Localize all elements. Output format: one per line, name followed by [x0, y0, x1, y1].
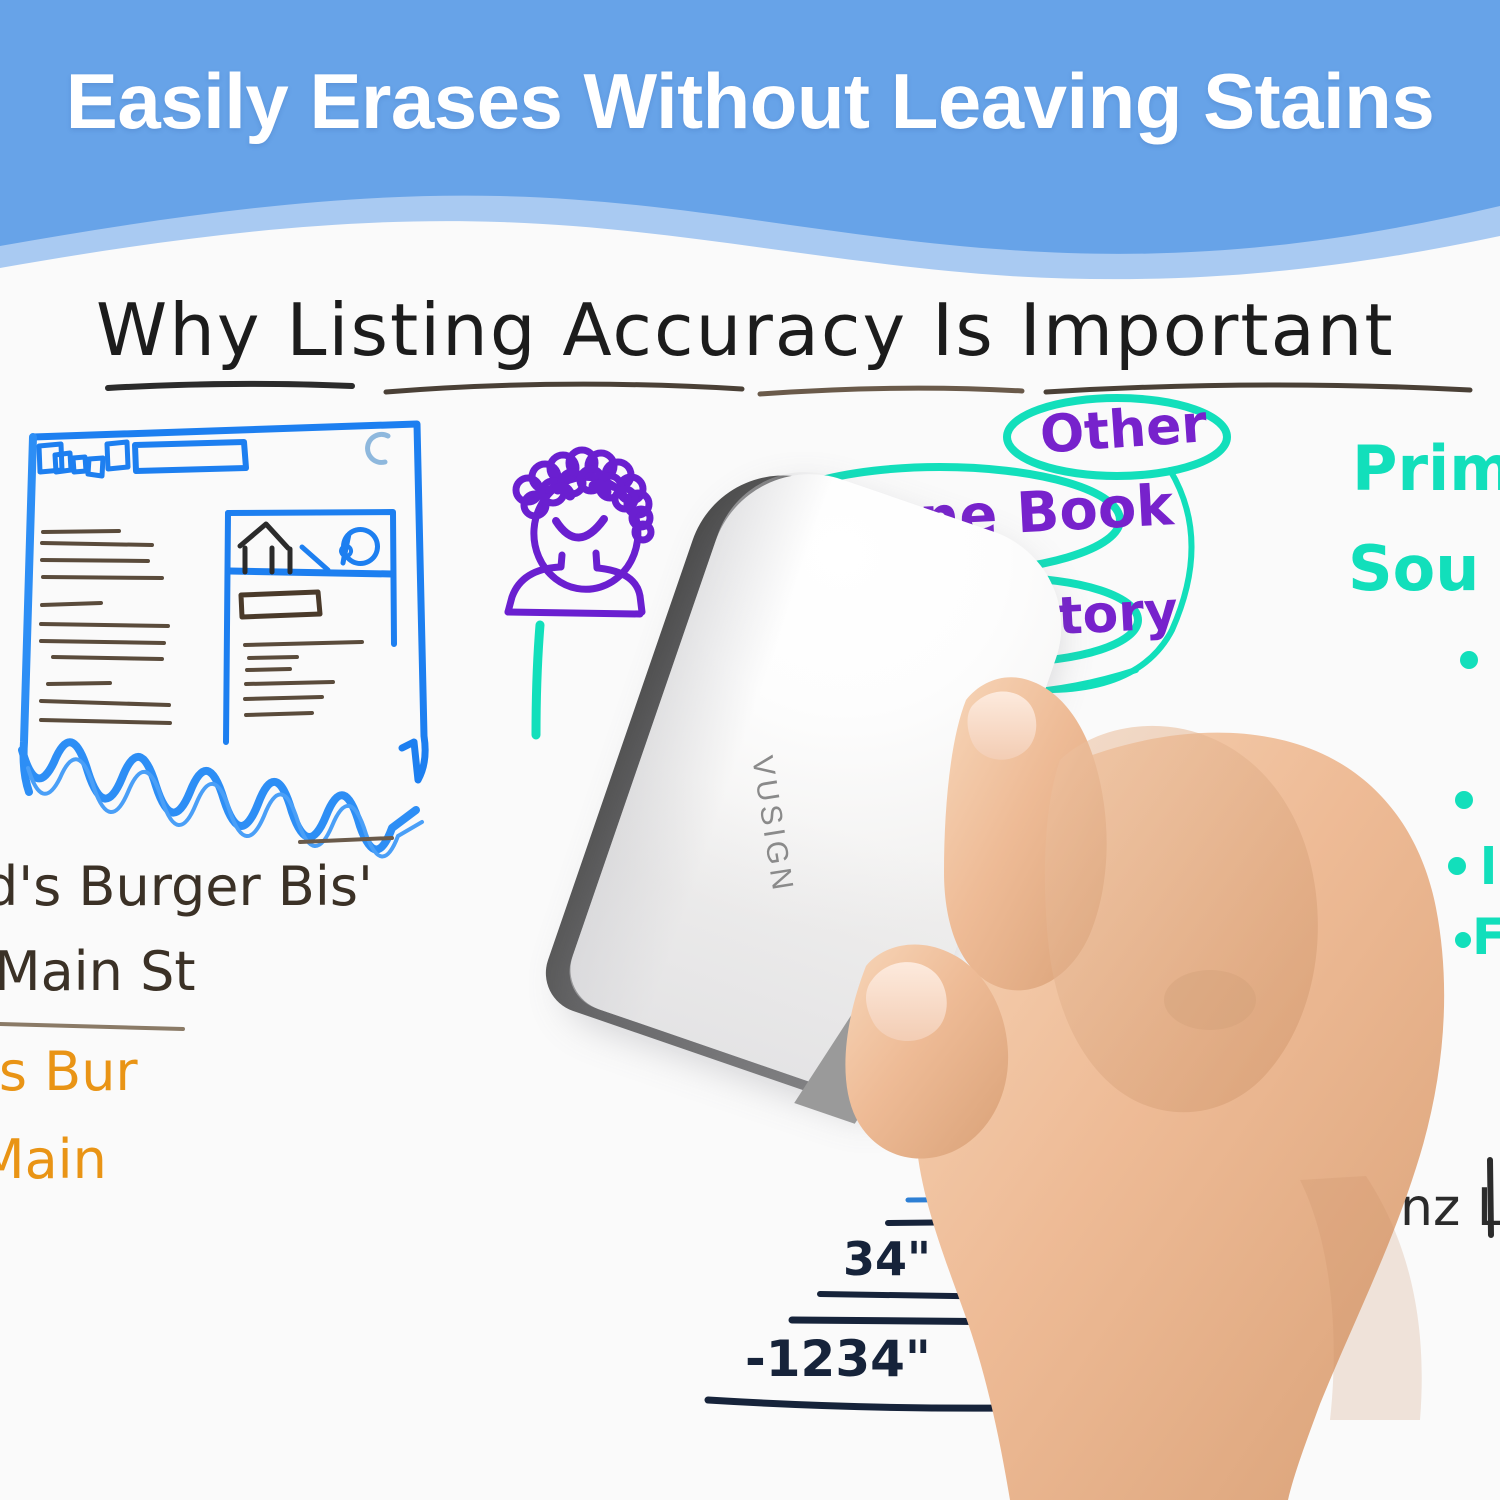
- left-note-2: Main St: [0, 940, 196, 1003]
- bubble-label-other: Other: [1038, 394, 1209, 466]
- board-title: Why Listing Accuracy Is Important: [96, 288, 1395, 372]
- primary-sources-line1: Prima: [1352, 432, 1500, 505]
- primary-sources-line2: Sou: [1348, 532, 1500, 605]
- bullet-text-4: F: [1472, 908, 1500, 966]
- left-note-3: 's Bur: [0, 1040, 138, 1103]
- bullet-text-3: l: [1480, 838, 1500, 896]
- measurement-label-2: -1234": [745, 1330, 931, 1388]
- left-note-1: d's Burger Bis': [0, 855, 373, 918]
- measurement-label-1: 34": [843, 1232, 931, 1286]
- left-note-4: Main: [0, 1128, 107, 1191]
- right-fragment-text: nz L: [1400, 1178, 1500, 1238]
- product-marketing-image: Why Listing Accuracy Is Important Other …: [0, 0, 1500, 1500]
